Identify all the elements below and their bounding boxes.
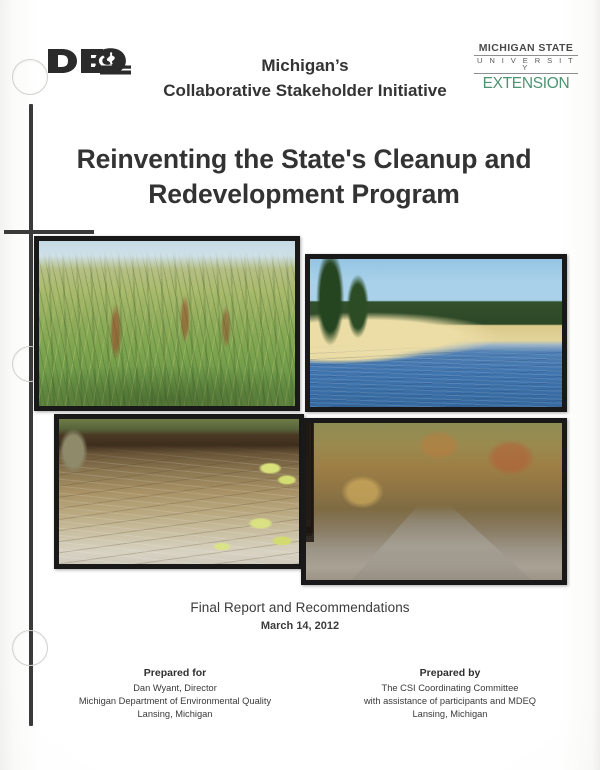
subtitle-line-2: Collaborative Stakeholder Initiative (140, 79, 470, 104)
punch-hole-icon (12, 59, 48, 95)
cover-photo-lake-shore (305, 254, 567, 412)
photo-image-forest-trail (306, 423, 562, 580)
page-title: Reinventing the State's Cleanup and Rede… (44, 142, 564, 212)
prepared-by-line-2: with assistance of participants and MDEQ (316, 695, 584, 708)
document-page: MICHIGAN STATE U N I V E R S I T Y EXTEN… (0, 0, 600, 770)
msu-logo-line1: MICHIGAN STATE (474, 43, 578, 54)
photo-image-marsh-grass (39, 241, 295, 406)
binder-spine-crossbar (4, 230, 94, 234)
punch-hole-icon (12, 630, 48, 666)
title-line-1: Reinventing the State's Cleanup and (44, 142, 564, 177)
credit-prepared-by: Prepared by The CSI Coordinating Committ… (316, 666, 584, 721)
msu-logo-line3: EXTENSION (474, 76, 578, 92)
prepared-by-title: Prepared by (316, 666, 584, 681)
cover-photo-stream (54, 414, 304, 569)
subtitle-line-1: Michigan’s (140, 54, 470, 79)
cover-subtitle: Michigan’s Collaborative Stakeholder Ini… (140, 54, 470, 103)
msu-logo-line2: U N I V E R S I T Y (474, 55, 578, 74)
prepared-by-line-1: The CSI Coordinating Committee (316, 682, 584, 695)
msu-extension-logo: MICHIGAN STATE U N I V E R S I T Y EXTEN… (474, 43, 578, 91)
credit-prepared-for: Prepared for Dan Wyant, Director Michiga… (36, 666, 314, 721)
prepared-for-line-3: Lansing, Michigan (36, 708, 314, 721)
report-date: March 14, 2012 (130, 620, 470, 632)
prepared-by-line-3: Lansing, Michigan (316, 708, 584, 721)
prepared-for-line-1: Dan Wyant, Director (36, 682, 314, 695)
photo-image-lake-shore (310, 259, 562, 407)
title-line-2: Redevelopment Program (44, 177, 564, 212)
cover-photo-forest-trail (301, 418, 567, 585)
deq-logo-icon (46, 46, 132, 80)
report-subtitle: Final Report and Recommendations (130, 600, 470, 615)
prepared-for-line-2: Michigan Department of Environmental Qua… (36, 695, 314, 708)
cover-photo-marsh-grass (34, 236, 300, 411)
photo-image-stream (59, 419, 299, 564)
prepared-for-title: Prepared for (36, 666, 314, 681)
